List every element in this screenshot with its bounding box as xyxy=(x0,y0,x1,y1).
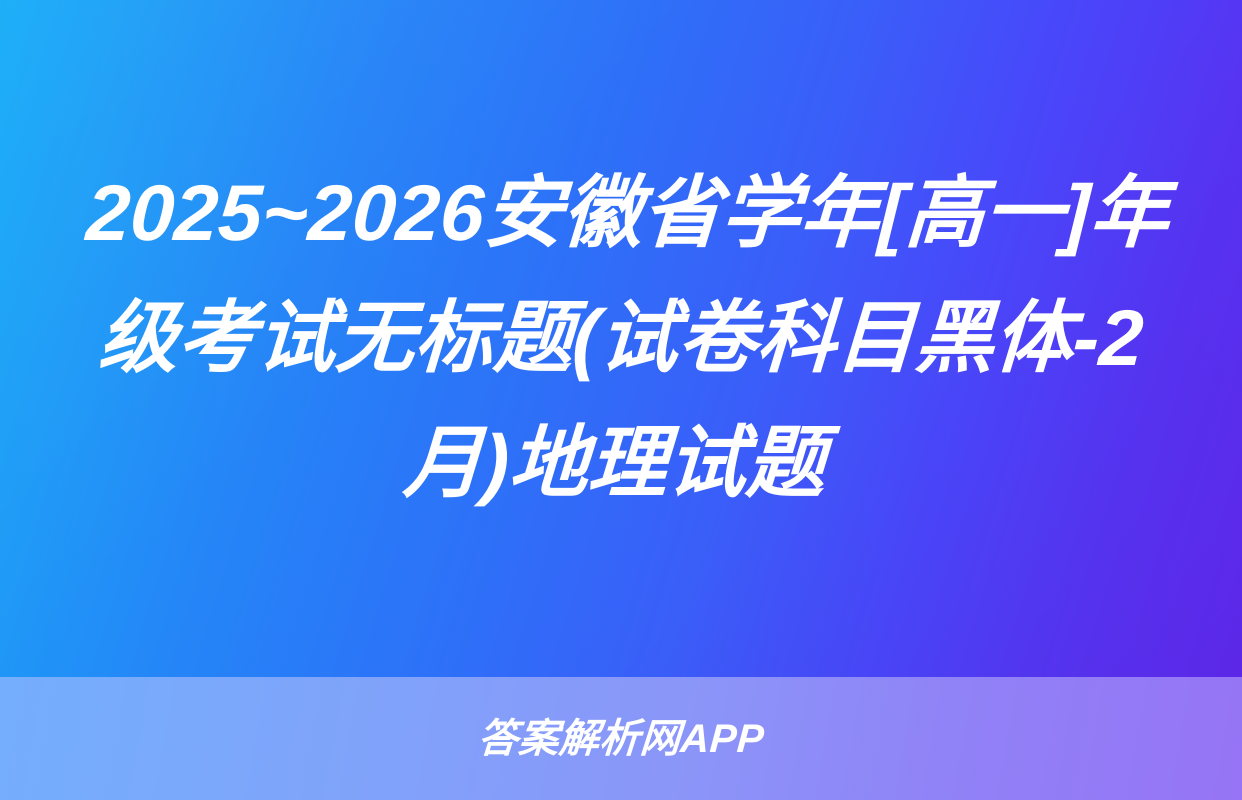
hero-banner: 2025~2026安徽省学年[高一]年级考试无标题(试卷科目黑体-2月)地理试题 xyxy=(0,0,1242,677)
screenshot-root: 2025~2026安徽省学年[高一]年级考试无标题(试卷科目黑体-2月)地理试题… xyxy=(0,0,1242,800)
footer-bar: 答案解析网APP xyxy=(0,677,1242,800)
page-title: 2025~2026安徽省学年[高一]年级考试无标题(试卷科目黑体-2月)地理试题 xyxy=(62,151,1180,525)
app-brand-label: 答案解析网APP xyxy=(476,719,765,759)
